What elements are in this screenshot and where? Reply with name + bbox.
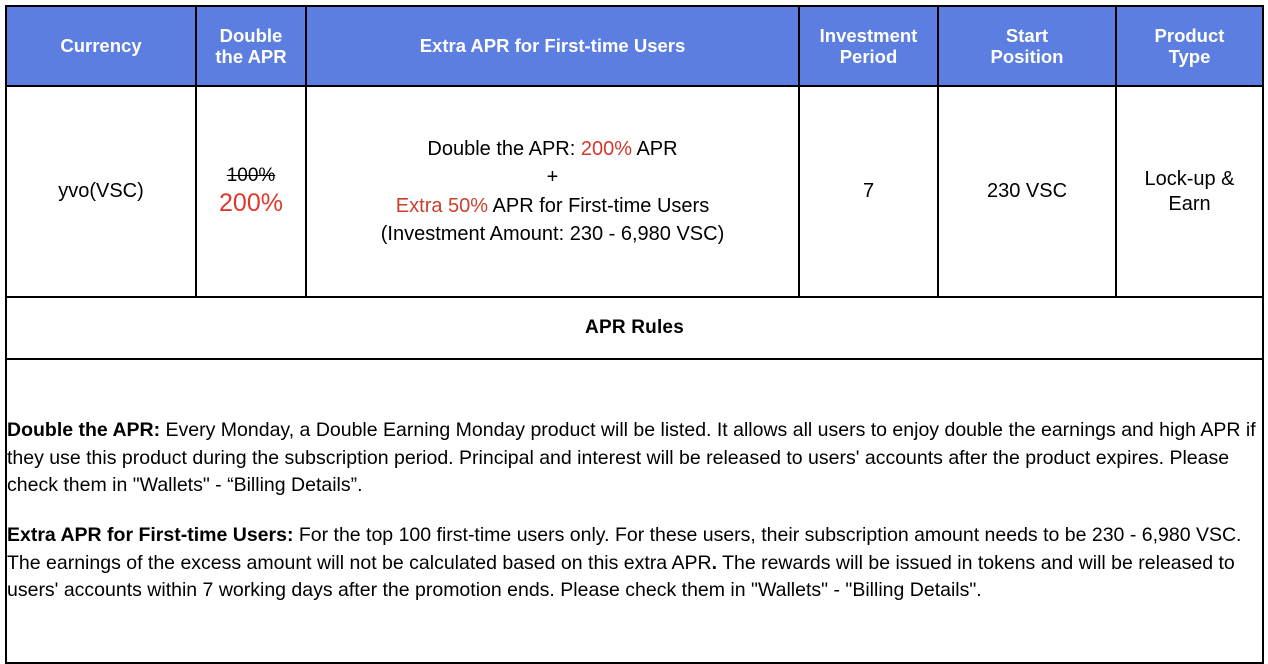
column-header-investment-period: Investment Period (799, 6, 938, 86)
investment-period-value: 7 (863, 180, 874, 202)
apr-promotional-value: 200% (203, 188, 299, 218)
product-type-value-line1: Lock-up & (1144, 168, 1234, 190)
product-type-value-line2: Earn (1168, 193, 1210, 215)
extra-apr-extra-highlight: Extra 50% (396, 195, 488, 217)
promotion-table-sheet: Currency Double the APR Extra APR for Fi… (0, 0, 1268, 660)
extra-apr-description: Double the APR: 200% APR + Extra 50% APR… (313, 135, 792, 249)
extra-apr-investment-amount: (Investment Amount: 230 - 6,980 VSC) (313, 220, 792, 248)
column-header-double-the-apr: Double the APR (196, 6, 306, 86)
rule-lead-extra-apr: Extra APR for First-time Users: (7, 524, 293, 546)
column-header-double-the-apr-line1: Double (220, 25, 283, 46)
cell-investment-period: 7 (799, 86, 938, 297)
extra-apr-double-prefix: Double the APR: (427, 138, 580, 160)
table-header-row: Currency Double the APR Extra APR for Fi… (6, 6, 1263, 86)
column-header-double-the-apr-line2: the APR (215, 46, 286, 67)
column-header-start-position-line2: Position (991, 46, 1064, 67)
extra-apr-line-double: Double the APR: 200% APR (313, 135, 792, 163)
column-header-investment-period-line2: Period (840, 46, 898, 67)
apr-rules-title: APR Rules (6, 297, 1263, 359)
cell-start-position: 230 VSC (938, 86, 1116, 297)
extra-apr-double-suffix: APR (632, 138, 678, 160)
column-header-investment-period-line1: Investment (820, 25, 918, 46)
currency-value: yvo(VSC) (58, 180, 144, 202)
table-row: yvo(VSC) 100% 200% Double the APR: 200% … (6, 86, 1263, 297)
rules-title-row: APR Rules (6, 297, 1263, 359)
column-header-extra-apr-label: Extra APR for First-time Users (420, 35, 686, 56)
apr-rules-body: Double the APR: Every Monday, a Double E… (6, 359, 1263, 663)
column-header-product-type-line2: Type (1169, 46, 1211, 67)
rule-text-double-the-apr: Every Monday, a Double Earning Monday pr… (7, 419, 1256, 496)
table-header: Currency Double the APR Extra APR for Fi… (6, 6, 1263, 86)
extra-apr-plus-symbol: + (313, 163, 792, 191)
apr-original-value: 100% (203, 165, 299, 188)
start-position-value: 230 VSC (987, 180, 1067, 202)
cell-product-type: Lock-up & Earn (1116, 86, 1263, 297)
column-header-currency: Currency (6, 6, 196, 86)
promotion-details-table: Currency Double the APR Extra APR for Fi… (5, 5, 1264, 664)
rules-body-row: Double the APR: Every Monday, a Double E… (6, 359, 1263, 663)
column-header-start-position-line1: Start (1006, 25, 1048, 46)
cell-currency: yvo(VSC) (6, 86, 196, 297)
cell-double-the-apr: 100% 200% (196, 86, 306, 297)
rule-paragraph-double-the-apr: Double the APR: Every Monday, a Double E… (7, 417, 1262, 500)
column-header-product-type: Product Type (1116, 6, 1263, 86)
cell-extra-apr-description: Double the APR: 200% APR + Extra 50% APR… (306, 86, 799, 297)
column-header-product-type-line1: Product (1155, 25, 1225, 46)
table-body: yvo(VSC) 100% 200% Double the APR: 200% … (6, 86, 1263, 663)
apr-value-stack: 100% 200% (203, 165, 299, 219)
rule-lead-double-the-apr: Double the APR: (7, 419, 160, 441)
rule-paragraph-extra-apr: Extra APR for First-time Users: For the … (7, 522, 1262, 605)
extra-apr-extra-suffix: APR for First-time Users (488, 195, 709, 217)
extra-apr-line-extra: Extra 50% APR for First-time Users (313, 192, 792, 220)
extra-apr-double-highlight: 200% (581, 138, 632, 160)
column-header-extra-apr-first-time-users: Extra APR for First-time Users (306, 6, 799, 86)
column-header-start-position: Start Position (938, 6, 1116, 86)
column-header-currency-label: Currency (60, 35, 141, 56)
